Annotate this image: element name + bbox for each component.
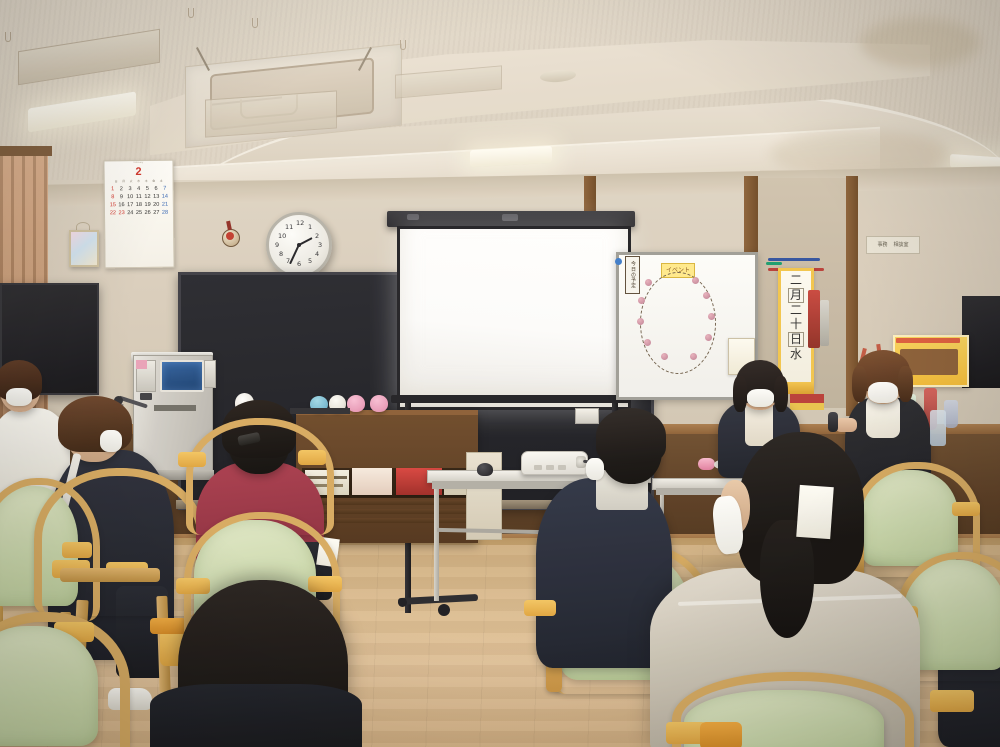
ceiling-hook-icon: [252, 18, 258, 28]
shelf-book: [352, 468, 392, 495]
cart-pink-tag: [136, 360, 147, 369]
date-char: 月: [788, 288, 804, 303]
attendee-front-beige-ponytail: [760, 520, 814, 638]
whiteboard-flower-marker: [692, 277, 699, 284]
calendar-day: 28: [161, 210, 169, 217]
calendar-day: 14: [161, 194, 169, 201]
calendar-dow: 木: [143, 180, 150, 183]
screen-control-box[interactable]: [575, 408, 599, 424]
attendee-dark-hair-front-shoulders: [150, 684, 362, 747]
projector-vent: [546, 465, 554, 470]
calendar-day: 19: [143, 202, 151, 209]
clock-numeral: 12: [296, 220, 304, 227]
calendar-day: 13: [152, 194, 160, 201]
calendar-dow: 水: [135, 180, 142, 183]
curtain-rail: [0, 146, 52, 156]
whiteboard-flower-marker: [644, 339, 651, 346]
calendar-day: 17: [126, 202, 134, 209]
cart-display-screen[interactable]: [160, 360, 204, 392]
decorative-tassel: [808, 290, 820, 348]
screen-caster-icon: [438, 604, 450, 616]
room-sign-left-text: 事務: [877, 243, 887, 248]
projection-screen-roller: [391, 395, 631, 403]
presenter-standing-face-mask: [868, 382, 898, 403]
room-sign-right-text: 相談室: [894, 243, 909, 248]
whiteboard-flower-marker: [690, 353, 697, 360]
ceiling-hook-icon: [5, 32, 11, 42]
calendar-dow: 土: [158, 180, 165, 183]
calendar-day: 26: [144, 210, 152, 217]
calendar-subtitle: February: [104, 161, 172, 165]
cart-right-panel[interactable]: [204, 360, 216, 388]
clock-numeral: 3: [318, 242, 322, 249]
chair-arm-cushion[interactable]: [700, 722, 742, 747]
presenter-standing-hand: [835, 418, 857, 432]
calendar-day: 10: [126, 194, 134, 201]
chair-armpad[interactable]: [524, 600, 556, 616]
decorative-tassel: [820, 300, 829, 346]
calendar-day: 18: [135, 202, 143, 209]
decorative-strip: [790, 394, 824, 403]
date-char: 十: [790, 318, 802, 331]
calendar-day: 15: [109, 202, 117, 209]
bottle: [944, 400, 958, 428]
whiteboard-flower-marker: [703, 292, 710, 299]
chair-tag: [150, 618, 186, 634]
presenter-standing-hair-side: [852, 366, 867, 402]
chair-armpad-right[interactable]: [952, 502, 980, 516]
calendar-day: 11: [135, 194, 143, 201]
handheld-microphone-icon[interactable]: [828, 412, 838, 432]
whiteboard-marker-stroke: [768, 258, 820, 261]
calendar-dow: 月: [120, 180, 127, 183]
calendar-day: 12: [143, 194, 151, 201]
poster-title-bar: [896, 338, 960, 343]
decorative-strip: [790, 403, 824, 410]
cart-brand-strip: [154, 405, 196, 411]
calendar-dow: 金: [150, 180, 157, 183]
calendar-dow: 日: [113, 180, 120, 183]
calendar-day: 9: [117, 194, 125, 201]
calendar-day: 7: [161, 186, 169, 193]
calendar-dow: 火: [128, 180, 135, 183]
calendar-day: 3: [126, 186, 134, 193]
projector-vent: [534, 465, 542, 470]
presenter-seated-face-mask: [747, 389, 774, 407]
ceiling-stain: [860, 18, 980, 68]
calendar-week: 15 16 17 18 19 20 21: [105, 202, 173, 209]
attendee-black-coat-mask: [100, 430, 122, 452]
projector-vent: [558, 465, 566, 470]
attendee-navy-mask-edge: [586, 458, 604, 480]
clock-numeral: 5: [308, 258, 312, 265]
clock-numeral: 2: [315, 233, 319, 240]
attendee-white-top-mask: [6, 388, 32, 406]
attendee-front-beige-handout: [796, 485, 834, 539]
clock-numeral: 1: [308, 224, 312, 231]
calendar-day: 2: [117, 186, 125, 193]
calendar-day: 27: [152, 210, 160, 217]
chair-armpad[interactable]: [930, 690, 974, 712]
cart-button[interactable]: [140, 393, 152, 400]
whiteboard-flower-marker: [661, 353, 668, 360]
clock-numeral: 11: [285, 224, 293, 231]
ceiling-hook-icon: [400, 40, 406, 50]
calendar-day: 24: [126, 210, 134, 217]
whiteboard-magnet-icon[interactable]: [615, 258, 622, 265]
calendar-day: 4: [135, 186, 143, 193]
water-bottle: [930, 410, 946, 446]
date-char: 二: [790, 274, 802, 287]
screen-caster-icon: [398, 598, 407, 607]
tabletop-black-object: [477, 463, 493, 476]
clock-numeral: 6: [297, 261, 301, 268]
presenter-seated-hair-side: [774, 376, 788, 412]
calendar-day: 20: [152, 202, 160, 209]
chair-armpad[interactable]: [308, 576, 342, 592]
plush-figurine-pink: [370, 395, 388, 412]
whiteboard-vertical-label: 今日の予定: [625, 256, 640, 294]
clock-numeral: 8: [279, 251, 283, 258]
table-leg: [434, 489, 439, 601]
wall-ornament-icon: [218, 221, 240, 247]
whiteboard-label-text: 今日の予定: [630, 261, 635, 289]
whiteboard-flow-loop: [640, 272, 716, 374]
whiteboard-flower-marker: [645, 279, 652, 286]
clock-numeral: 4: [315, 251, 319, 258]
projection-screen: [397, 226, 631, 410]
calendar-day: 16: [117, 202, 125, 209]
presenter-seated-hair-side: [733, 376, 747, 412]
whiteboard-marker-stroke: [766, 262, 782, 265]
calendar-month: 2: [105, 167, 173, 179]
calendar-week: 8 9 10 11 12 13 14: [105, 194, 173, 201]
attendee-navy-hair: [596, 408, 666, 464]
wall-clock: 12 1 2 3 4 5 6 7 8 9 10 11: [266, 212, 332, 278]
calendar-week: 22 23 24 25 26 27 28: [105, 210, 173, 217]
chair-armpad[interactable]: [178, 452, 206, 467]
projection-screen-housing: [387, 211, 635, 227]
room-sign: 事務 相談室: [866, 236, 920, 254]
whiteboard-flower-marker: [708, 313, 715, 320]
calendar-day: 25: [135, 210, 143, 217]
date-char: 日: [788, 332, 804, 347]
clock-center-pin: [297, 243, 301, 247]
calendar-dow-row: 日 月 火 水 木 金 土: [105, 180, 173, 184]
date-char: 二: [790, 304, 802, 317]
whiteboard-flower-marker: [637, 318, 644, 325]
chair-armpad[interactable]: [176, 578, 210, 594]
ceiling-hook-icon: [188, 8, 194, 18]
calendar-day: 23: [117, 210, 125, 217]
clock-numeral: 10: [278, 233, 286, 240]
clock-numeral: 9: [275, 242, 279, 249]
calendar-week: 1 2 3 4 5 6 7: [105, 186, 173, 193]
date-panel-base: [784, 382, 814, 394]
whiteboard-flower-marker: [638, 297, 645, 304]
pink-tabletop-item: [698, 458, 715, 470]
chair-arm-rail[interactable]: [60, 568, 160, 582]
calendar-day: 21: [161, 202, 169, 209]
presenter-standing-hair-side: [898, 366, 913, 402]
wall-calendar: February 2 日 月 火 水 木 金 土 1 2 3 4 5 6 7: [103, 160, 174, 269]
calendar-day: 5: [143, 186, 151, 193]
cabinet-top-object: [290, 408, 350, 414]
calendar-day: 8: [109, 194, 117, 201]
calendar-day: 22: [109, 210, 117, 217]
chair-armpad[interactable]: [298, 450, 326, 465]
photo-scene: February 2 日 月 火 水 木 金 土 1 2 3 4 5 6 7: [0, 0, 1000, 747]
framed-picture: [69, 230, 99, 267]
whiteboard-flower-marker: [705, 334, 712, 341]
calendar-day: 1: [109, 186, 117, 193]
calendar-day: 6: [152, 186, 160, 193]
date-char: 水: [790, 348, 802, 361]
